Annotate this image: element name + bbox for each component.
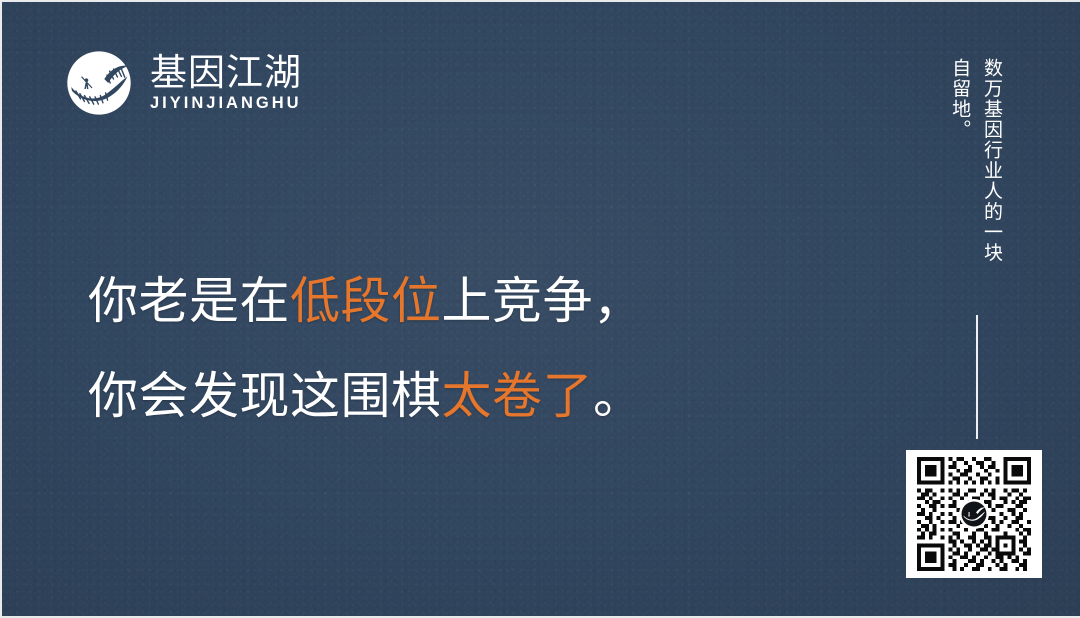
dna-bridge-circle-logo-icon bbox=[959, 499, 989, 529]
qr-code-card[interactable] bbox=[906, 450, 1042, 578]
headline-line-2-before: 你会发现这围棋 bbox=[88, 368, 442, 424]
dna-bridge-circle-logo-icon bbox=[66, 50, 132, 116]
brand-name-en: JIYINJIANGHU bbox=[150, 95, 302, 112]
headline-line-1-accent: 低段位 bbox=[290, 273, 442, 329]
tagline-column-left: 自留地。 bbox=[948, 58, 970, 140]
vertical-tagline: 数万基因行业人的一块 自留地。 bbox=[948, 58, 1002, 263]
headline-line-1: 你老是在低段位上竞争， bbox=[88, 254, 868, 349]
brand-lockup: 基因江湖 JIYINJIANGHU bbox=[66, 50, 302, 116]
poster-canvas: 基因江湖 JIYINJIANGHU 你老是在低段位上竞争， 你会发现这围棋太卷了… bbox=[0, 0, 1080, 618]
brand-name-cn: 基因江湖 bbox=[150, 54, 302, 92]
vertical-rule bbox=[976, 315, 978, 439]
headline-line-2: 你会发现这围棋太卷了。 bbox=[88, 349, 868, 444]
headline-line-2-after: 。 bbox=[593, 368, 644, 424]
headline: 你老是在低段位上竞争， 你会发现这围棋太卷了。 bbox=[88, 254, 868, 444]
qr-code-image[interactable] bbox=[916, 457, 1032, 571]
brand-wordmark: 基因江湖 JIYINJIANGHU bbox=[150, 54, 302, 111]
headline-line-1-before: 你老是在 bbox=[88, 273, 290, 329]
headline-line-1-after: 上竞争， bbox=[442, 273, 644, 329]
headline-line-2-accent: 太卷了 bbox=[442, 368, 594, 424]
tagline-column-right: 数万基因行业人的一块 bbox=[980, 58, 1002, 263]
